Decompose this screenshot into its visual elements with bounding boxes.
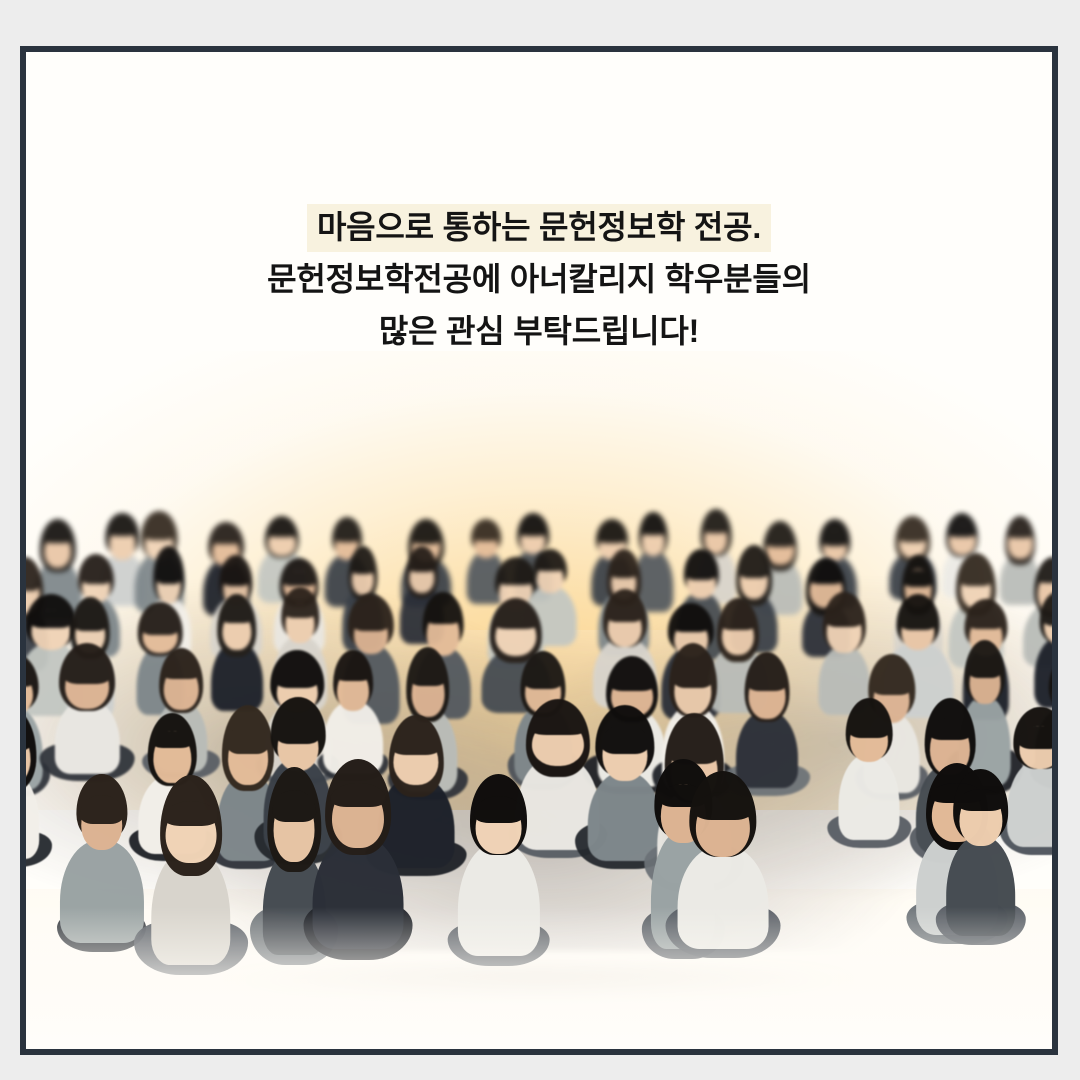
crowd-person-fringe (336, 667, 370, 682)
crowd-person (737, 666, 797, 788)
crowd-person-fringe (109, 524, 136, 536)
crowd-person-fringe (686, 563, 716, 580)
crowd-person-fringe (144, 523, 174, 540)
crowd-person-fringe (809, 570, 844, 584)
crowd-stage (26, 504, 1052, 1049)
crowd-person (52, 657, 124, 774)
crowd-person (64, 792, 138, 943)
crowd-person-fringe (536, 561, 565, 571)
crowd-person-fringe (75, 613, 107, 631)
crowd-person-fringe (610, 673, 655, 691)
crowd-person-fringe (703, 521, 728, 533)
crowd-person (458, 794, 540, 956)
crowd-person-fringe (142, 616, 179, 635)
crowd-person-torso (26, 773, 39, 858)
crowd-person-fringe (285, 603, 316, 618)
crowd-person-fringe (494, 612, 538, 628)
crowd-person-fringe (900, 610, 936, 630)
crowd-person (838, 713, 900, 840)
crowd-person-fringe (283, 571, 316, 586)
crowd-person (945, 787, 1017, 936)
crowd-person-fringe (766, 532, 795, 547)
crowd-person-fringe (212, 533, 241, 544)
crowd-person-fringe (898, 527, 928, 543)
crowd-person-torso (457, 843, 539, 956)
crowd-person-fringe (968, 614, 1003, 629)
group-photo (26, 504, 1052, 1049)
poster-canvas: 마음으로 통하는 문헌정보학 전공. 문헌정보학전공에 아너칼리지 학우분들의 … (26, 52, 1052, 1049)
crowd-person-fringe (163, 663, 200, 679)
headline-line-3: 많은 관심 부탁드립니다! (26, 306, 1052, 358)
poster-card: 마음으로 통하는 문헌정보학 전공. 문헌정보학전공에 아너칼리지 학우분들의 … (20, 46, 1058, 1055)
crowd-person-torso (946, 836, 1016, 936)
crowd-person-fringe (598, 529, 626, 542)
crowd-person-fringe (426, 607, 461, 624)
crowd-person-fringe (267, 526, 297, 537)
headline-block: 마음으로 통하는 문헌정보학 전공. 문헌정보학전공에 아너칼리지 학우분들의 … (26, 202, 1052, 357)
crowd-person-fringe (673, 617, 709, 633)
crowd-person-fringe (739, 558, 769, 578)
headline-highlight: 마음으로 통하는 문헌정보학 전공. (307, 204, 771, 252)
crowd-person-fringe (721, 613, 756, 630)
crowd-person-fringe (606, 603, 643, 623)
crowd-person-fringe (64, 659, 111, 684)
crowd-person (315, 780, 401, 950)
crowd-person-fringe (904, 570, 933, 587)
crowd-person-fringe (826, 607, 863, 626)
crowd-person-fringe (353, 611, 390, 631)
crowd-person-fringe (43, 531, 73, 543)
crowd-person-torso (839, 754, 900, 840)
crowd-person (26, 723, 42, 859)
crowd-person-fringe (331, 783, 387, 807)
crowd-person-fringe (221, 610, 252, 623)
crowd-person-fringe (520, 524, 547, 536)
headline-line-2: 문헌정보학전공에 아너칼리지 학우분들의 (26, 254, 1052, 306)
crowd-person-fringe (929, 718, 972, 740)
crowd-person-torso (55, 700, 119, 774)
crowd-person-fringe (531, 718, 586, 735)
crowd-person-fringe (1007, 527, 1033, 538)
crowd-person (149, 796, 233, 965)
headline-line-1: 마음으로 통하는 문헌정보학 전공. (26, 202, 1052, 254)
crowd-person-fringe (822, 530, 848, 546)
crowd-person-fringe (81, 567, 111, 584)
crowd-person (209, 607, 264, 711)
crowd-person-fringe (334, 528, 359, 542)
crowd-person-fringe (222, 568, 249, 585)
crowd-person-fringe (641, 524, 665, 535)
crowd-person-torso (59, 840, 143, 943)
crowd-person-fringe (948, 524, 976, 537)
crowd-person (681, 790, 765, 949)
crowd-person-fringe (350, 558, 374, 574)
crowd-person-fringe (474, 530, 499, 541)
crowd-person-fringe (412, 529, 441, 544)
crowd-person-fringe (408, 558, 435, 572)
crowd-person-fringe (152, 731, 192, 749)
crowd-person-torso (678, 846, 769, 948)
